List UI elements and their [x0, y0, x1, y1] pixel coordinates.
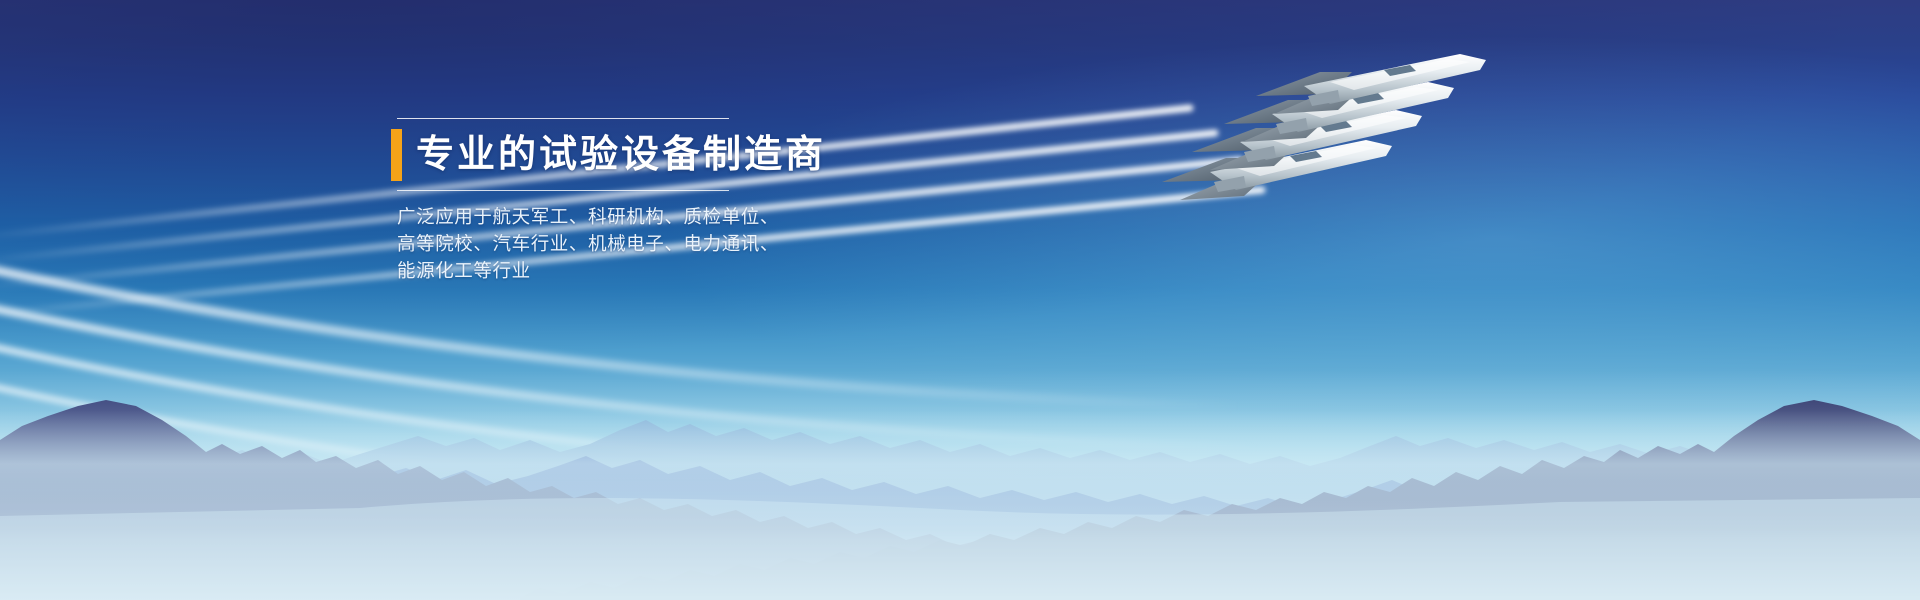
divider-top: [397, 118, 729, 119]
fighter-jet-formation-icon: [1130, 46, 1510, 276]
divider-bottom: [397, 190, 729, 191]
subtitle-line-2: 高等院校、汽车行业、机械电子、电力通讯、: [397, 230, 1031, 257]
page-title: 专业的试验设备制造商: [402, 129, 826, 181]
subtitle-line-1: 广泛应用于航天军工、科研机构、质检单位、: [397, 203, 1031, 230]
accent-bar: [391, 129, 402, 181]
banner-copy: 专业的试验设备制造商 广泛应用于航天军工、科研机构、质检单位、 高等院校、汽车行…: [391, 118, 1031, 284]
hero-banner: 专业的试验设备制造商 广泛应用于航天军工、科研机构、质检单位、 高等院校、汽车行…: [0, 0, 1920, 600]
banner-subtitle: 广泛应用于航天军工、科研机构、质检单位、 高等院校、汽车行业、机械电子、电力通讯…: [391, 203, 1031, 284]
headline-row: 专业的试验设备制造商: [391, 129, 1031, 181]
subtitle-line-3: 能源化工等行业: [397, 257, 1031, 284]
mountain-range: [0, 340, 1920, 600]
